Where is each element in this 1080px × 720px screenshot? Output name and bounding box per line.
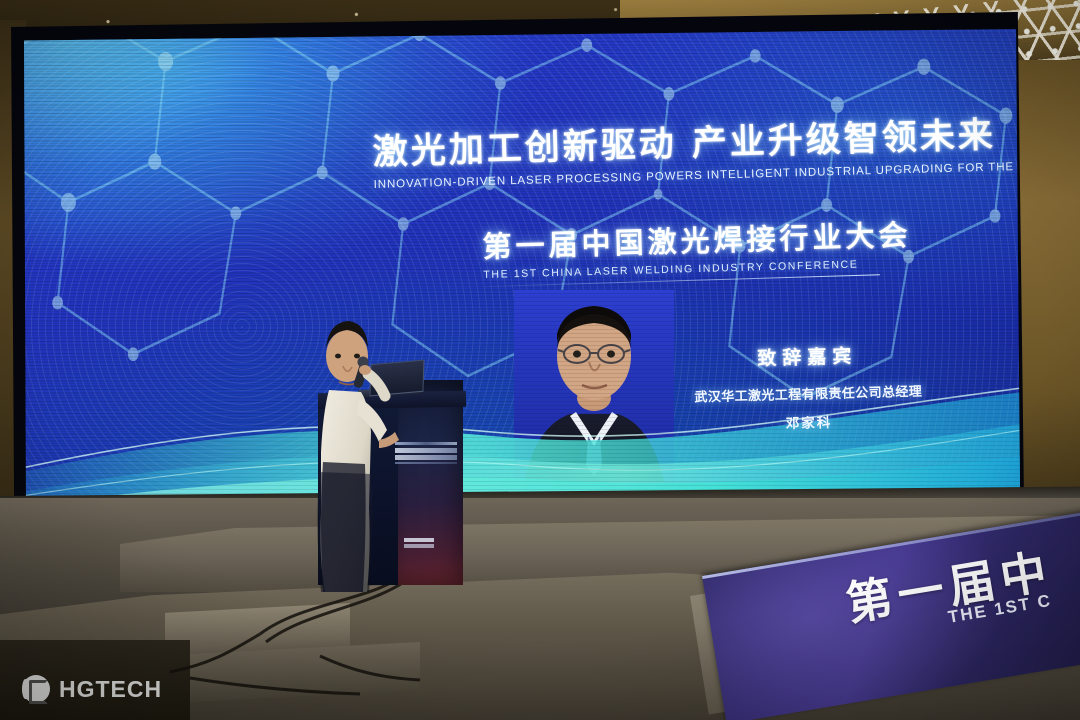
speaker-person	[305, 312, 415, 592]
conference-title-block: 第一届中国激光焊接行业大会 THE 1ST CHINA LASER WELDIN…	[482, 209, 1003, 280]
hgtech-brand-text: HGTECH	[59, 676, 162, 703]
speaker-info-block: 致辞嘉宾 武汉华工激光工程有限责任公司总经理 邓家科	[677, 339, 939, 435]
hgtech-watermark: HGTECH	[22, 675, 162, 703]
screenshot-root: 激光加工创新驱动 产业升级智领未来 INNOVATION-DRIVEN LASE…	[0, 0, 1080, 720]
led-screen-frame: 激光加工创新驱动 产业升级智领未来 INNOVATION-DRIVEN LASE…	[8, 12, 1028, 512]
speaker-organization: 武汉华工激光工程有限责任公司总经理	[678, 380, 938, 406]
hgtech-logo-icon	[22, 675, 50, 703]
led-screen: 激光加工创新驱动 产业升级智领未来 INNOVATION-DRIVEN LASE…	[22, 28, 1022, 510]
speaker-name: 邓家科	[679, 408, 939, 435]
headline-block: 激光加工创新驱动 产业升级智领未来 INNOVATION-DRIVEN LASE…	[372, 107, 994, 191]
speaker-role: 致辞嘉宾	[677, 339, 938, 373]
screen-text-layer: 激光加工创新驱动 产业升级智领未来 INNOVATION-DRIVEN LASE…	[22, 28, 1022, 510]
